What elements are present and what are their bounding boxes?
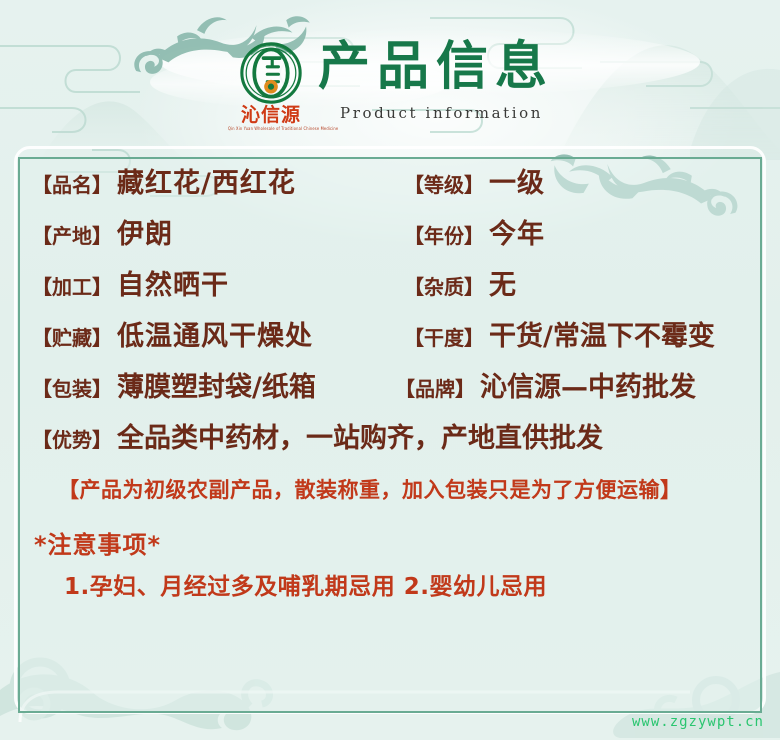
brand-name-cn: 沁信源 <box>228 104 314 126</box>
spec-cell-品名: 【品名】 藏红花/西红花 <box>32 159 296 210</box>
spec-cell-贮藏: 【贮藏】 低温通风干燥处 <box>32 312 313 363</box>
attention-block: *注意事项* 1.孕妇、月经过多及哺乳期忌用 2.婴幼儿忌用 <box>20 530 760 620</box>
spec-value: 伊朗 <box>117 210 173 260</box>
spec-cell-等级: 【等级】 一级 <box>404 159 545 210</box>
spec-cell-产地: 【产地】 伊朗 <box>32 210 173 261</box>
spec-row: 【加工】 自然晒干 【杂质】 无 <box>20 261 760 312</box>
brand-name-en: Qin Xin Yuan Wholesale of Traditional Ch… <box>228 127 314 132</box>
site-watermark: www.zgzywpt.cn <box>632 714 764 730</box>
spec-key: 【杂质】 <box>404 262 484 312</box>
brand-logo: 沁信源 Qin Xin Yuan Wholesale of Traditiona… <box>228 42 314 138</box>
spec-cell-品牌: 【品牌】 沁信源—中药批发 <box>395 363 696 414</box>
product-spec-list: 【品名】 藏红花/西红花 【等级】 一级 【产地】 伊朗 【年份】 今年 【加工… <box>20 159 760 711</box>
spec-key: 【年份】 <box>404 211 484 261</box>
spec-value: 沁信源—中药批发 <box>480 363 696 413</box>
page-title: 产品信息 <box>318 38 554 96</box>
spec-key: 【品名】 <box>32 160 112 210</box>
spec-value: 干货/常温下不霉变 <box>489 312 715 362</box>
product-information-page: 沁信源 Qin Xin Yuan Wholesale of Traditiona… <box>0 0 780 740</box>
spec-cell-杂质: 【杂质】 无 <box>404 261 517 312</box>
spec-value: 一级 <box>489 159 545 209</box>
spec-cell-干度: 【干度】 干货/常温下不霉变 <box>404 312 715 363</box>
circular-seal-logo-icon <box>240 42 302 104</box>
spec-key: 【干度】 <box>404 313 484 363</box>
spec-row-advantage: 【优势】 全品类中药材，一站购齐，产地直供批发 <box>20 414 760 468</box>
spec-cell-年份: 【年份】 今年 <box>404 210 545 261</box>
spec-row: 【产地】 伊朗 【年份】 今年 <box>20 210 760 261</box>
attention-title: *注意事项* <box>34 530 161 560</box>
spec-cell-优势: 【优势】 全品类中药材，一站购齐，产地直供批发 <box>32 414 603 465</box>
spec-cell-包装: 【包装】 薄膜塑封袋/纸箱 <box>32 363 316 414</box>
spec-row: 【品名】 藏红花/西红花 【等级】 一级 <box>20 159 760 210</box>
spec-value: 今年 <box>489 210 545 260</box>
red-notice: 【产品为初级农副产品，散装称重，加入包装只是为了方便运输】 <box>20 468 760 514</box>
spec-row: 【包装】 薄膜塑封袋/纸箱 【品牌】 沁信源—中药批发 <box>20 363 760 414</box>
red-notice-text: 【产品为初级农副产品，散装称重，加入包装只是为了方便运输】 <box>58 468 682 512</box>
attention-items: 1.孕妇、月经过多及哺乳期忌用 2.婴幼儿忌用 <box>64 572 547 602</box>
page-header: 沁信源 Qin Xin Yuan Wholesale of Traditiona… <box>0 0 780 152</box>
spec-key: 【优势】 <box>32 415 112 465</box>
page-subtitle: Product information <box>340 104 543 122</box>
spec-key: 【加工】 <box>32 262 112 312</box>
spec-key: 【产地】 <box>32 211 112 261</box>
spec-value: 全品类中药材，一站购齐，产地直供批发 <box>117 414 603 464</box>
spec-value: 自然晒干 <box>117 261 229 311</box>
spec-key: 【包装】 <box>32 364 112 414</box>
spec-row: 【贮藏】 低温通风干燥处 【干度】 干货/常温下不霉变 <box>20 312 760 363</box>
spec-key: 【贮藏】 <box>32 313 112 363</box>
spec-value: 低温通风干燥处 <box>117 312 313 362</box>
spec-value: 无 <box>489 261 517 311</box>
spec-cell-加工: 【加工】 自然晒干 <box>32 261 229 312</box>
spec-value: 薄膜塑封袋/纸箱 <box>117 363 316 413</box>
spec-key: 【品牌】 <box>395 364 475 414</box>
spec-key: 【等级】 <box>404 160 484 210</box>
spec-value: 藏红花/西红花 <box>117 159 296 209</box>
